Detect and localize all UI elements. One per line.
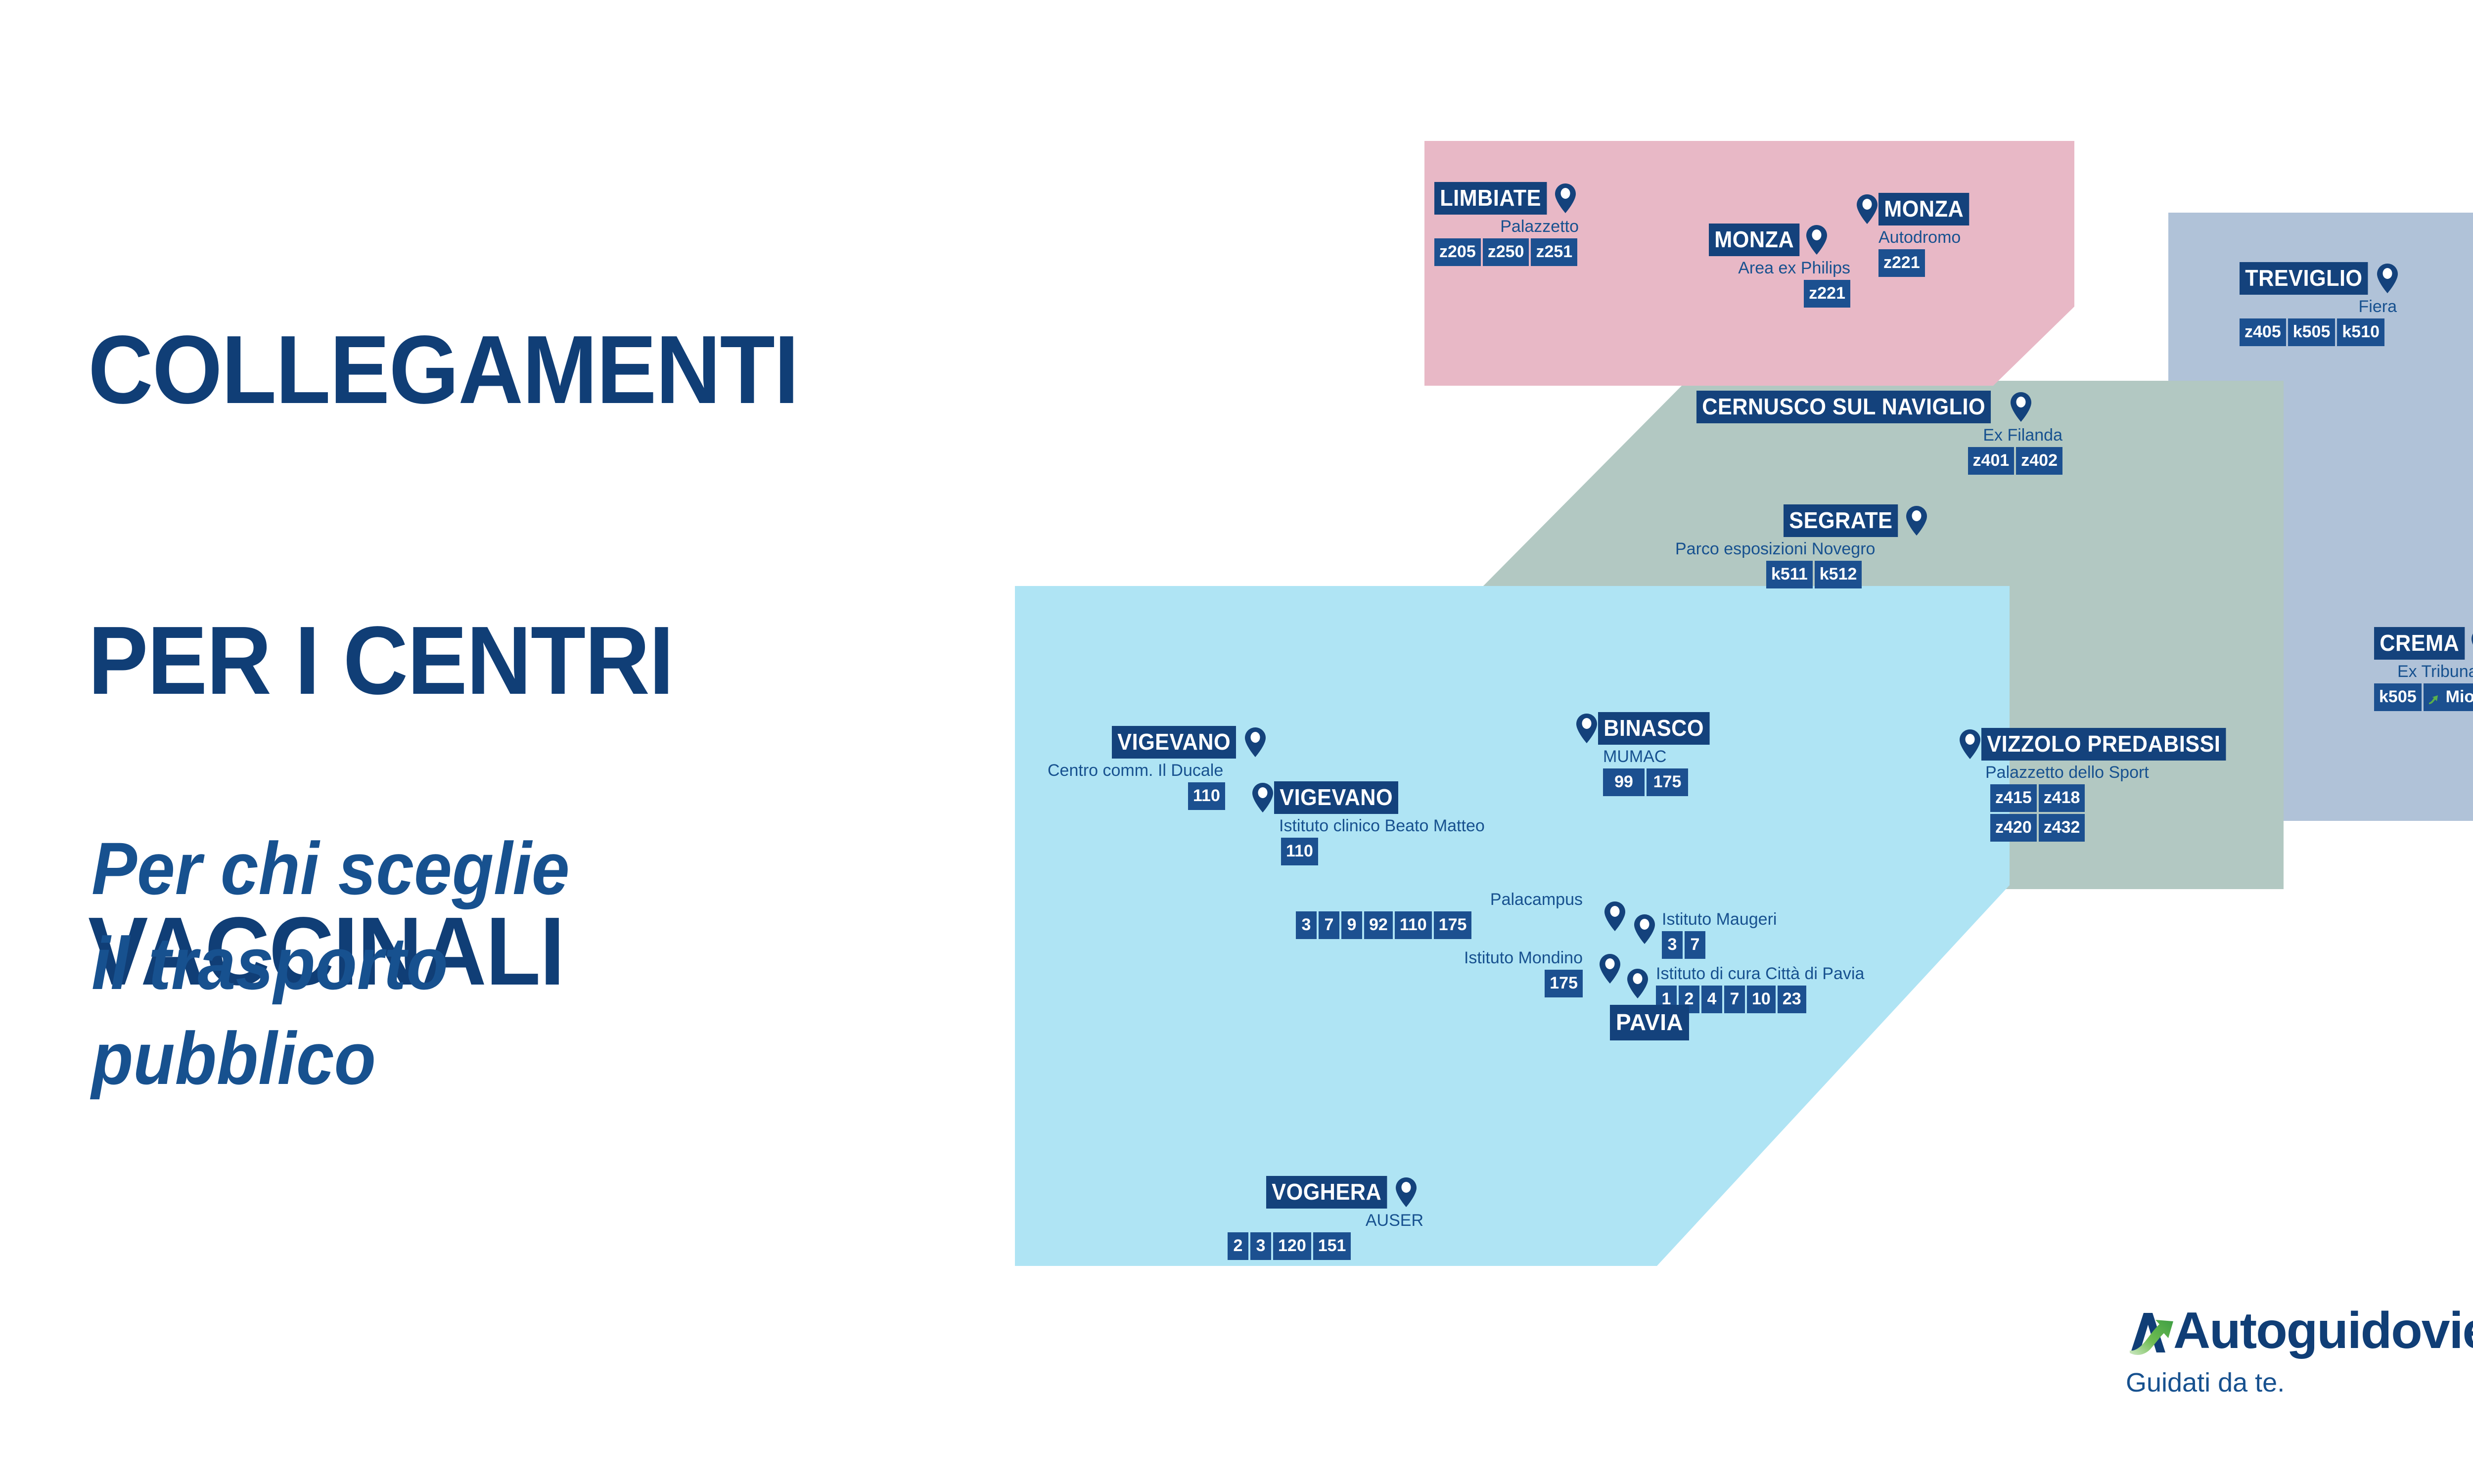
line-badge[interactable]: 10 [1747,986,1776,1013]
line-badge-group: 110 [1281,838,1485,865]
line-badge[interactable]: 151 [1313,1232,1351,1260]
line-badge-group: z221 [1709,280,1850,308]
poi-city-label: BINASCO [1598,712,1709,745]
line-badge[interactable]: 7 [1319,911,1339,939]
line-badge[interactable]: 120 [1273,1232,1311,1260]
poi-place-label: Parco esposizioni Novegro [1675,540,1928,557]
poi-pavia-group-label: PAVIA [1610,1011,1689,1034]
line-badge-group: z415 z418 z420 z432 [1990,784,2104,842]
line-badge[interactable]: z420 [1990,814,2037,842]
miobus-arrow-icon [2428,691,2443,703]
line-badge-group: z401 z402 [1696,447,2062,475]
poi-vigevano-centro-comm-il-ducale[interactable]: VIGEVANO Centro comm. Il Ducale 110 [1048,726,1267,810]
line-badge-group: 175 [1424,970,1583,997]
poi-cernusco-sul-naviglio[interactable]: CERNUSCO SUL NAVIGLIO Ex Filanda z401 z4… [1696,391,2062,475]
poi-place-label: Ex Filanda [1696,427,2062,444]
poi-treviglio[interactable]: TREVIGLIO Fiera z405 k505 k510 [2240,262,2399,346]
poi-limbiate[interactable]: LIMBIATE Palazzetto z205 z250 z251 [1434,182,1579,266]
poi-vigevano-istituto-clinico-beato-matteo[interactable]: VIGEVANO Istituto clinico Beato Matteo 1… [1251,781,1485,865]
map-pin-icon [1575,713,1598,744]
map-pin-icon [2010,392,2032,422]
subtitle-line-2: il trasporto [92,916,1002,1011]
line-badge[interactable]: 110 [1281,838,1318,865]
line-badge-group: z405 k505 k510 [2240,318,2399,346]
poi-place-label: Autodromo [1878,229,1975,246]
infographic-canvas: COLLEGAMENTI PER I CENTRI VACCINALI Per … [0,0,2473,1484]
poi-pavia-istituto-maugeri[interactable]: Istituto Maugeri 3 7 [1662,911,1777,959]
line-badge-group: z221 [1878,249,1975,277]
map-pin-icon [1805,225,1828,255]
line-badge-group: 3 7 [1662,931,1777,959]
poi-place-label: Fiera [2240,298,2397,315]
line-badge[interactable]: z250 [1483,238,1529,266]
line-badge[interactable]: 7 [1685,931,1705,959]
line-badge[interactable]: k511 [1766,561,1813,588]
map-pin-icon [1244,727,1267,758]
poi-place-label: Istituto Mondino [1424,949,1583,966]
poi-segrate[interactable]: SEGRATE Parco esposizioni Novegro k511 k… [1675,504,1928,588]
poi-place-label: AUSER [1266,1212,1423,1229]
map-pin-icon [1554,183,1577,214]
line-badge[interactable]: k512 [1815,561,1862,588]
poi-pavia-palacampus[interactable]: Palacampus 3 7 9 92 110 175 [1296,891,1583,939]
line-badge-group: z205 z250 z251 [1434,238,1579,266]
poi-place-label: Area ex Philips [1709,260,1850,276]
map-pin-icon [1959,729,1981,760]
poi-place-label: MUMAC [1603,748,1717,765]
poi-binasco[interactable]: BINASCO MUMAC 99 175 [1575,712,1717,796]
line-badge[interactable]: 7 [1724,986,1745,1013]
map-pin-icon [1395,1177,1418,1208]
line-badge-group: 2 3 120 151 [1228,1232,1423,1260]
line-badge[interactable]: k505 [2374,683,2422,711]
autoguidovie-arrow-icon [2123,1305,2178,1360]
autoguidovie-logo[interactable]: Autoguidovie Guidati da te. [2123,1303,2473,1396]
poi-city-label: MONZA [1878,193,1969,225]
map-pin-icon [1251,782,1274,813]
page-subtitle: Per chi sceglie il trasporto pubblico [92,821,1002,1106]
poi-city-label: VIGEVANO [1112,726,1236,759]
poi-place-label: Centro comm. Il Ducale [1048,762,1267,779]
poi-city-label: SEGRATE [1784,504,1898,537]
line-badge[interactable]: 99 [1603,768,1645,796]
poi-place-label: Istituto di cura Città di Pavia [1656,965,1864,982]
poi-city-label: MONZA [1709,224,1799,256]
miobus-label: Miobus [2446,688,2473,705]
line-badge[interactable]: 3 [1296,911,1317,939]
line-badge[interactable]: z221 [1878,249,1925,277]
line-badge[interactable]: k510 [2337,318,2384,346]
poi-city-label: PAVIA [1610,1005,1689,1040]
map-pin-icon [1599,953,1621,984]
line-badge[interactable]: 23 [1778,986,1806,1013]
line-badge-group: 3 7 9 92 110 175 [1296,911,1583,939]
line-badge[interactable]: 175 [1647,768,1688,796]
line-badge[interactable]: 175 [1434,911,1472,939]
poi-place-label: Palazzetto dello Sport [1985,764,2242,781]
line-badge-group: k511 k512 [1766,561,1928,588]
poi-monza-area-ex-philips[interactable]: MONZA Area ex Philips z221 [1709,224,1850,308]
line-badge[interactable]: 9 [1341,911,1362,939]
map-pin-icon [1626,968,1649,999]
line-badge[interactable]: 175 [1545,970,1583,997]
poi-voghera[interactable]: VOGHERA AUSER 2 3 120 151 [1266,1176,1423,1260]
poi-city-label: VOGHERA [1266,1176,1387,1209]
line-badge[interactable]: 110 [1395,911,1432,939]
map-pin-icon [2376,263,2399,294]
poi-city-label: CERNUSCO SUL NAVIGLIO [1696,391,1991,423]
poi-city-label: CREMA [2374,627,2465,660]
line-badge-group: k505 Miobus [2374,683,2473,711]
line-badge[interactable]: 110 [1188,782,1225,810]
poi-city-label: VIGEVANO [1274,781,1398,814]
line-badge[interactable]: 4 [1701,986,1722,1013]
line-badge[interactable]: 3 [1250,1232,1271,1260]
brand-tagline: Guidati da te. [2126,1369,2473,1396]
line-badge[interactable]: z402 [2016,447,2062,475]
poi-monza-autodromo[interactable]: MONZA Autodromo z221 [1856,193,1975,277]
line-badge-group: 99 175 [1603,768,1717,796]
line-badge[interactable]: z415 [1990,784,2037,812]
poi-place-label: Palacampus [1296,891,1583,908]
map-pin-icon [1633,914,1656,944]
title-line-1: COLLEGAMENTI [88,321,1238,418]
map-pin-icon [2471,628,2473,659]
line-badge[interactable]: k505 [2288,318,2336,346]
subtitle-line-3: pubblico [92,1011,1002,1106]
map-pin-icon [1905,505,1928,536]
line-badge[interactable]: z405 [2240,318,2286,346]
poi-pavia-istituto-mondino[interactable]: Istituto Mondino 175 [1424,949,1583,997]
poi-vizzolo-predabissi[interactable]: VIZZOLO PREDABISSI Palazzetto dello Spor… [1959,728,2242,842]
subtitle-line-1: Per chi sceglie [92,821,1002,916]
poi-city-label: LIMBIATE [1434,182,1547,215]
poi-city-label: TREVIGLIO [2240,262,2368,295]
poi-place-label: Istituto Maugeri [1662,911,1777,928]
miobus-badge[interactable]: Miobus [2424,683,2473,711]
map-pin-icon [1856,194,1878,225]
line-badge[interactable]: z221 [1804,280,1850,308]
line-badge[interactable]: 3 [1662,931,1683,959]
line-badge[interactable]: z205 [1434,238,1481,266]
line-badge[interactable]: z432 [2039,814,2085,842]
line-badge[interactable]: z401 [1968,447,2015,475]
title-line-2: PER I CENTRI [88,612,1238,709]
brand-name: Autoguidovie [2173,1305,2473,1356]
poi-place-label: Palazzetto [1434,218,1579,235]
poi-place-label: Istituto clinico Beato Matteo [1279,817,1485,834]
map-pin-icon [1603,901,1626,932]
poi-place-label: Ex Tribunale [2374,663,2473,680]
line-badge[interactable]: z418 [2039,784,2085,812]
line-badge[interactable]: 92 [1364,911,1393,939]
poi-city-label: VIZZOLO PREDABISSI [1981,728,2226,761]
line-badge[interactable]: 2 [1228,1232,1248,1260]
line-badge[interactable]: z251 [1531,238,1577,266]
poi-crema[interactable]: CREMA Ex Tribunale k505 Miobus [2374,627,2473,711]
